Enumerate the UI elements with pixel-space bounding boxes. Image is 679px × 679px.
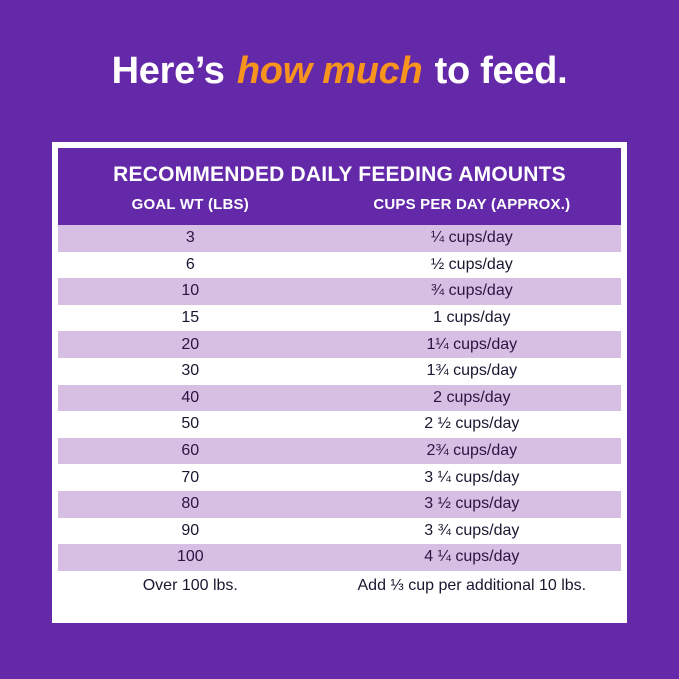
cell-cups-per-day: 4 ¼ cups/day	[323, 547, 621, 567]
cell-cups-per-day: 2 ½ cups/day	[323, 414, 621, 434]
feeding-table: RECOMMENDED DAILY FEEDING AMOUNTS GOAL W…	[58, 148, 621, 617]
table-heading: RECOMMENDED DAILY FEEDING AMOUNTS	[58, 162, 621, 188]
table-row: 30 1¾ cups/day	[58, 358, 621, 385]
cell-goal-wt: 60	[58, 441, 323, 461]
table-row: 3 ¼ cups/day	[58, 225, 621, 252]
feeding-table-frame: RECOMMENDED DAILY FEEDING AMOUNTS GOAL W…	[52, 142, 627, 623]
table-row: 80 3 ½ cups/day	[58, 491, 621, 518]
table-row: 6 ½ cups/day	[58, 252, 621, 279]
cell-cups-per-day: 3 ½ cups/day	[323, 494, 621, 514]
cell-cups-per-day: 3 ¼ cups/day	[323, 468, 621, 488]
column-header-cups-per-day: CUPS PER DAY (APPROX.)	[323, 195, 621, 215]
table-row: 100 4 ¼ cups/day	[58, 544, 621, 571]
table-body: 3 ¼ cups/day 6 ½ cups/day 10 ¾ cups/day …	[58, 225, 621, 617]
cell-goal-wt: 70	[58, 468, 323, 488]
cell-goal-wt: Over 100 lbs.	[58, 576, 323, 596]
page-title-suffix: to feed.	[424, 50, 567, 92]
cell-cups-per-day: 3 ¾ cups/day	[323, 521, 621, 541]
page-title-accent: how much	[235, 50, 425, 92]
cell-cups-per-day: ¾ cups/day	[323, 281, 621, 301]
cell-cups-per-day: 2¾ cups/day	[323, 441, 621, 461]
cell-goal-wt: 10	[58, 281, 323, 301]
cell-goal-wt: 20	[58, 335, 323, 355]
cell-cups-per-day: 1¾ cups/day	[323, 361, 621, 381]
cell-goal-wt: 50	[58, 414, 323, 434]
page-title-prefix: Here’s	[112, 50, 235, 92]
cell-goal-wt: 100	[58, 547, 323, 567]
table-row: 40 2 cups/day	[58, 385, 621, 412]
table-column-headers: GOAL WT (LBS) CUPS PER DAY (APPROX.)	[58, 195, 621, 215]
page-title: Here’s how much to feed.	[0, 48, 679, 94]
table-row: 20 1¼ cups/day	[58, 331, 621, 358]
column-header-goal-wt: GOAL WT (LBS)	[58, 195, 323, 215]
cell-cups-per-day: 1¼ cups/day	[323, 335, 621, 355]
table-row: 50 2 ½ cups/day	[58, 411, 621, 438]
cell-cups-per-day: 2 cups/day	[323, 388, 621, 408]
cell-goal-wt: 40	[58, 388, 323, 408]
table-row-overflow: Over 100 lbs. Add ⅓ cup per additional 1…	[58, 571, 621, 601]
table-row: 15 1 cups/day	[58, 305, 621, 332]
cell-goal-wt: 15	[58, 308, 323, 328]
table-row: 70 3 ¼ cups/day	[58, 464, 621, 491]
cell-cups-per-day: ¼ cups/day	[323, 228, 621, 248]
cell-goal-wt: 80	[58, 494, 323, 514]
table-header-block: RECOMMENDED DAILY FEEDING AMOUNTS GOAL W…	[58, 148, 621, 225]
cell-goal-wt: 3	[58, 228, 323, 248]
table-row: 90 3 ¾ cups/day	[58, 518, 621, 545]
cell-cups-per-day: 1 cups/day	[323, 308, 621, 328]
table-row: 60 2¾ cups/day	[58, 438, 621, 465]
cell-cups-per-day: ½ cups/day	[323, 255, 621, 275]
cell-cups-per-day: Add ⅓ cup per additional 10 lbs.	[323, 576, 621, 596]
cell-goal-wt: 30	[58, 361, 323, 381]
table-row: 10 ¾ cups/day	[58, 278, 621, 305]
feeding-chart-page: Here’s how much to feed. RECOMMENDED DAI…	[0, 0, 679, 679]
cell-goal-wt: 6	[58, 255, 323, 275]
cell-goal-wt: 90	[58, 521, 323, 541]
